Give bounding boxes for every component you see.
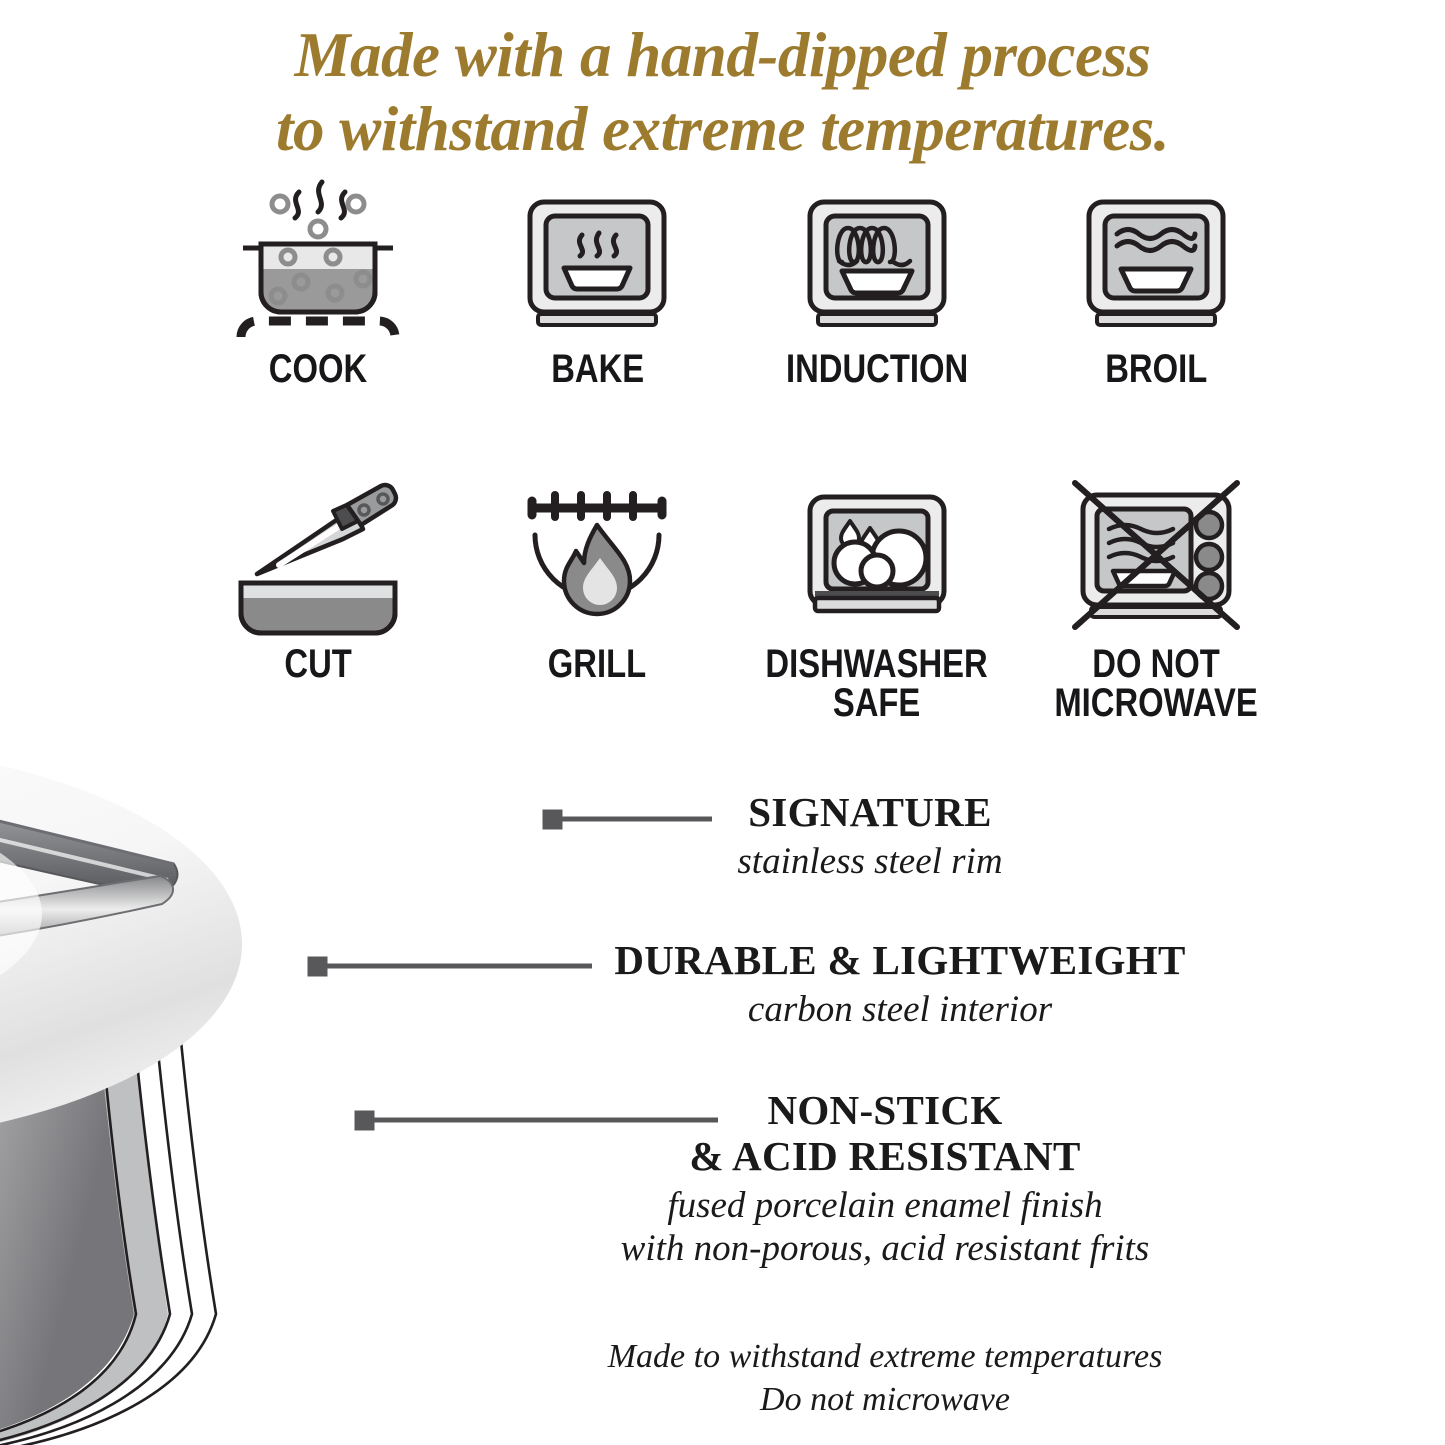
capability-label-dishwasher-safe: DISHWASHER SAFE <box>766 645 988 723</box>
capability-label-do-not-microwave: DO NOT MICROWAVE <box>1055 645 1258 723</box>
cookware-illustration <box>0 614 582 1445</box>
pot-boiling-icon <box>223 172 413 344</box>
callout-title-line-1: NON-STICK <box>767 1087 1002 1133</box>
callout-title-nonstick: NON-STICK & ACID RESISTANT <box>470 1088 1300 1180</box>
capability-label-broil: BROIL <box>1105 350 1207 389</box>
oven-broil-icon <box>1061 172 1251 344</box>
page-title: Made with a hand-dipped process to withs… <box>0 18 1445 167</box>
capability-bake: BAKE <box>458 172 738 389</box>
callout-subtitle-signature: stainless steel rim <box>620 840 1120 884</box>
microwave-prohibited-icon <box>1061 467 1251 639</box>
capability-broil: BROIL <box>1017 172 1297 389</box>
callout-title-durable: DURABLE & LIGHTWEIGHT <box>560 938 1240 984</box>
callout-subtitle-line-1: fused porcelain enamel finish <box>667 1185 1102 1226</box>
oven-induction-coil-icon <box>782 172 972 344</box>
callout-subtitle-line-2: with non-porous, acid resistant frits <box>621 1228 1150 1269</box>
footnote-line-2: Do not microwave <box>760 1381 1010 1418</box>
capability-cook: COOK <box>178 172 458 389</box>
callout-title-line-2: & ACID RESISTANT <box>689 1133 1080 1179</box>
footnote-line-1: Made to withstand extreme temperatures <box>608 1338 1163 1375</box>
label-line-1: DO NOT <box>1092 642 1220 686</box>
dishwasher-dishes-icon <box>782 467 972 639</box>
callout-nonstick: NON-STICK & ACID RESISTANT fused porcela… <box>470 1088 1300 1271</box>
oven-bake-icon <box>502 172 692 344</box>
capability-do-not-microwave: DO NOT MICROWAVE <box>1017 467 1297 723</box>
capability-label-bake: BAKE <box>551 350 644 389</box>
callout-durable: DURABLE & LIGHTWEIGHT carbon steel inter… <box>560 938 1240 1032</box>
callout-subtitle-nonstick: fused porcelain enamel finish with non-p… <box>470 1184 1300 1271</box>
capability-label-cook: COOK <box>269 350 367 389</box>
label-line-2: MICROWAVE <box>1055 681 1258 725</box>
headline-line-1: Made with a hand-dipped process <box>294 20 1150 90</box>
callout-title-signature: SIGNATURE <box>620 790 1120 836</box>
footnote: Made to withstand extreme temperatures D… <box>470 1336 1300 1421</box>
capability-induction: INDUCTION <box>737 172 1017 389</box>
callout-signature: SIGNATURE stainless steel rim <box>620 790 1120 884</box>
label-line-2: SAFE <box>833 681 920 725</box>
callout-subtitle-durable: carbon steel interior <box>560 988 1240 1032</box>
capability-label-induction: INDUCTION <box>786 350 968 389</box>
icon-row-1: COOK BAKE <box>178 172 1296 389</box>
headline-line-2: to withstand extreme temperatures. <box>0 92 1445 166</box>
capability-dishwasher-safe: DISHWASHER SAFE <box>737 467 1017 723</box>
label-line-1: DISHWASHER <box>766 642 988 686</box>
product-infographic: Made with a hand-dipped process to withs… <box>0 0 1445 1445</box>
